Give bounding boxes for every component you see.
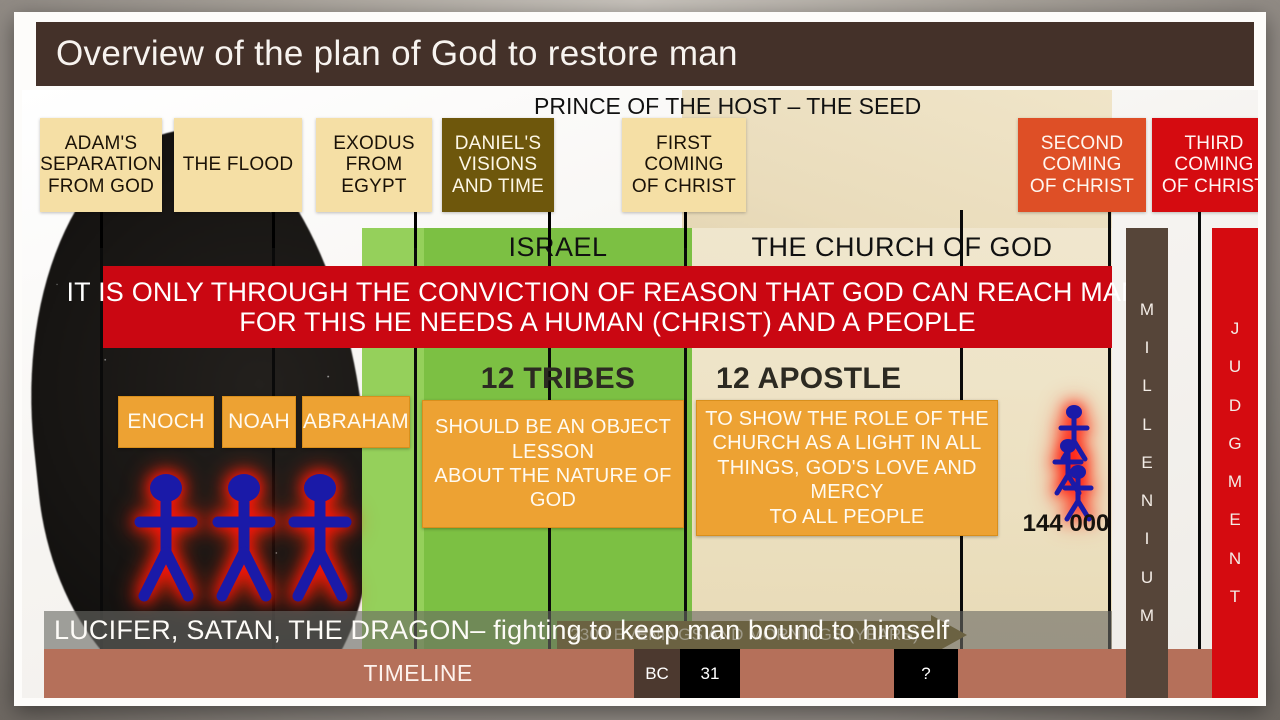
timeline-marker-text: ? (921, 664, 930, 684)
adversary-description: – fighting to keep man bound to himself (470, 615, 949, 646)
pillar-judgment-letters: JUDGMENT (1212, 228, 1258, 698)
pillar-letter: G (1228, 425, 1241, 463)
adversary-names: LUCIFER, SATAN, THE DRAGON (54, 615, 470, 646)
event-label: DANIEL'S VISIONS AND TIME (452, 133, 544, 198)
timeline-marker-bc: BC (634, 649, 680, 698)
title-bar: Overview of the plan of God to restore m… (36, 22, 1254, 86)
event-label: ADAM'S SEPARATION FROM GOD (40, 133, 162, 198)
era-label-church: THE CHURCH OF GOD (692, 232, 1112, 263)
connector-stem (684, 212, 687, 248)
event-box-adams-separation[interactable]: ADAM'S SEPARATION FROM GOD (40, 118, 162, 212)
adversary-strip: LUCIFER, SATAN, THE DRAGON – fighting to… (44, 611, 1112, 649)
heading-12-tribes: 12 TRIBES (424, 362, 692, 396)
event-box-third-coming[interactable]: THIRD COMING OF CHRIST (1152, 118, 1258, 212)
era-label-israel: ISRAEL (424, 232, 692, 263)
patriarch-label: ABRAHAM (303, 410, 409, 434)
slide-frame: Overview of the plan of God to restore m… (14, 12, 1266, 706)
pillar-letter: E (1229, 501, 1240, 539)
patriarch-label: ENOCH (127, 410, 204, 434)
pillar-letter: M (1228, 463, 1242, 501)
event-label: FIRST COMING OF CHRIST (632, 133, 736, 198)
timeline-label: TIMELINE (280, 649, 556, 698)
event-box-first-coming[interactable]: FIRST COMING OF CHRIST (622, 118, 746, 212)
info-box-12-apostle[interactable]: TO SHOW THE ROLE OF THE CHURCH AS A LIGH… (696, 400, 998, 536)
banner-line-1: IT IS ONLY THROUGH THE CONVICTION OF REA… (66, 277, 1148, 307)
event-label: EXODUS FROM EGYPT (333, 133, 414, 198)
event-box-daniels-visions[interactable]: DANIEL'S VISIONS AND TIME (442, 118, 554, 212)
connector-stem (548, 212, 551, 248)
prince-of-host-caption: PRINCE OF THE HOST – THE SEED (534, 93, 864, 120)
pillar-letter: M (1140, 597, 1154, 635)
pillar-letter: I (1145, 329, 1150, 367)
timeline-marker-text: 31 (701, 664, 720, 684)
timeline-marker-unknown: ? (894, 649, 958, 698)
stick-figure-group-patriarchs (126, 468, 366, 613)
pillar-letter: M (1140, 291, 1154, 329)
patriarch-chip-enoch[interactable]: ENOCH (118, 396, 214, 448)
pillar-letter: J (1231, 310, 1240, 348)
timeline-marker-31: 31 (680, 649, 740, 698)
pillar-millenium-letters: MILLENIUM (1126, 228, 1168, 698)
pillar-letter: T (1230, 578, 1240, 616)
info-box-text: TO SHOW THE ROLE OF THE CHURCH AS A LIGH… (705, 407, 989, 529)
event-label: SECOND COMING OF CHRIST (1030, 133, 1134, 198)
pillar-letter: D (1229, 387, 1241, 425)
info-box-12-tribes[interactable]: SHOULD BE AN OBJECT LESSON ABOUT THE NAT… (422, 400, 684, 528)
pillar-letter: L (1142, 406, 1151, 444)
connector-stem (414, 212, 417, 248)
stick-figures-icon (1044, 401, 1104, 525)
event-box-second-coming[interactable]: SECOND COMING OF CHRIST (1018, 118, 1146, 212)
stick-figures-icon (126, 468, 366, 608)
divider-line (1198, 210, 1201, 698)
pillar-letter: U (1229, 348, 1241, 386)
pillar-letter: U (1141, 559, 1153, 597)
heading-12-apostle: 12 APOSTLE (694, 362, 1110, 396)
patriarch-chip-noah[interactable]: NOAH (222, 396, 296, 448)
pillar-letter: I (1145, 520, 1150, 558)
remnant-count-label: 144 000 (1018, 510, 1114, 538)
connector-stem (272, 212, 275, 248)
pillar-letter: N (1141, 482, 1153, 520)
banner-line-2: FOR THIS HE NEEDS A HUMAN (CHRIST) AND A… (239, 307, 976, 337)
pillar-letter: L (1142, 367, 1151, 405)
event-label: THIRD COMING OF CHRIST (1162, 133, 1258, 198)
event-box-the-flood[interactable]: THE FLOOD (174, 118, 302, 212)
info-box-text: SHOULD BE AN OBJECT LESSON ABOUT THE NAT… (431, 415, 675, 513)
patriarch-chip-abraham[interactable]: ABRAHAM (302, 396, 410, 448)
page-title: Overview of the plan of God to restore m… (56, 34, 738, 74)
diagram-canvas: ISRAEL THE CHURCH OF GOD PRINCE OF THE H… (22, 90, 1258, 698)
event-box-exodus-from-egypt[interactable]: EXODUS FROM EGYPT (316, 118, 432, 212)
pillar-millenium: MILLENIUM (1126, 228, 1168, 698)
pillar-judgment: JUDGMENT (1212, 228, 1258, 698)
proclamation-banner: IT IS ONLY THROUGH THE CONVICTION OF REA… (103, 266, 1112, 348)
patriarch-label: NOAH (228, 410, 290, 434)
connector-stem (100, 212, 103, 248)
timeline-marker-text: BC (645, 664, 669, 684)
event-label: THE FLOOD (183, 154, 294, 176)
pillar-letter: E (1141, 444, 1152, 482)
pillar-letter: N (1229, 540, 1241, 578)
